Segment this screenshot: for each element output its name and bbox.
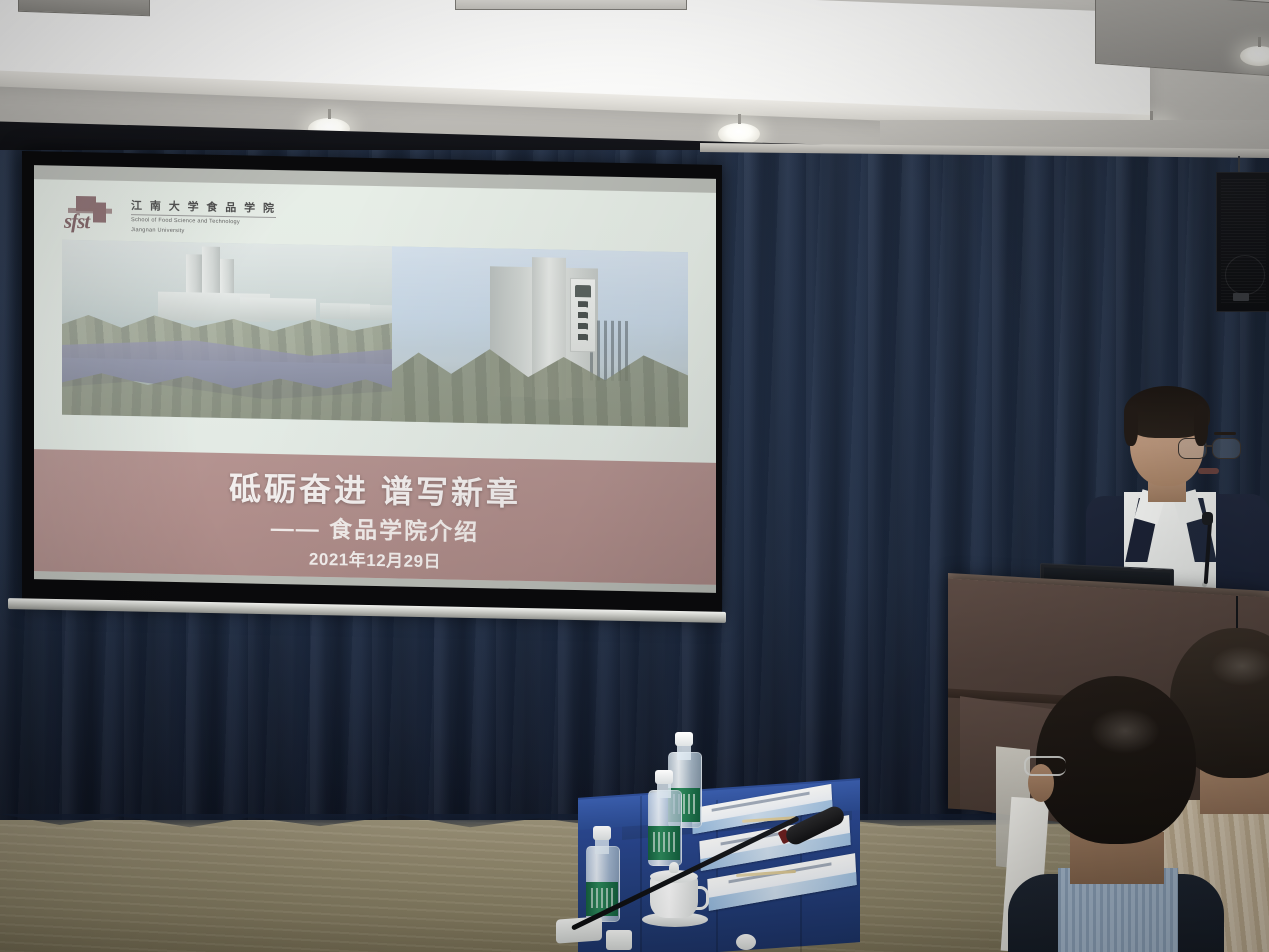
screen-surface: sfst 江 南 大 学 食 品 学 院 School of Food Scie… [34,165,716,593]
microphone-head-icon [1202,512,1213,525]
logo-chinese-name: 江 南 大 学 食 品 学 院 [131,200,276,218]
table-item [606,930,632,950]
building-vertical-sign [570,278,596,353]
conference-room-photo: sfst 江 南 大 学 食 品 学 院 School of Food Scie… [0,0,1269,952]
water-bottle [586,826,618,922]
audience-member [1018,664,1214,952]
university-logo: sfst 江 南 大 学 食 品 学 院 School of Food Scie… [62,196,276,240]
campus-lake-photo [62,240,392,422]
tea-cup [646,862,704,924]
logo-text-block: 江 南 大 学 食 品 学 院 School of Food Science a… [131,200,276,237]
logo-english-line1: School of Food Science and Technology [131,217,276,227]
logo-english-line2: Jiangnan University [131,227,276,237]
slide-photo-row [62,240,688,428]
water-bottle [648,770,680,866]
food-college-building-photo [392,246,688,427]
table-item [736,934,756,950]
eyeglasses-icon [1212,438,1241,459]
slide-title-band: 砥砺奋进 谱写新章 —— 食品学院介绍 2021年12月29日 [34,449,716,585]
ceiling-vent [1095,0,1269,76]
projection-screen: sfst 江 南 大 学 食 品 学 院 School of Food Scie… [8,150,723,620]
eyeglasses-icon [1024,756,1066,776]
presentation-slide: sfst 江 南 大 学 食 品 学 院 School of Food Scie… [34,179,716,585]
microphone-base [556,916,602,943]
wall-speaker-icon [1216,172,1269,312]
logo-wordmark: sfst [64,209,89,235]
ceiling-vent [455,0,687,10]
sfst-logo-icon: sfst [62,196,122,237]
